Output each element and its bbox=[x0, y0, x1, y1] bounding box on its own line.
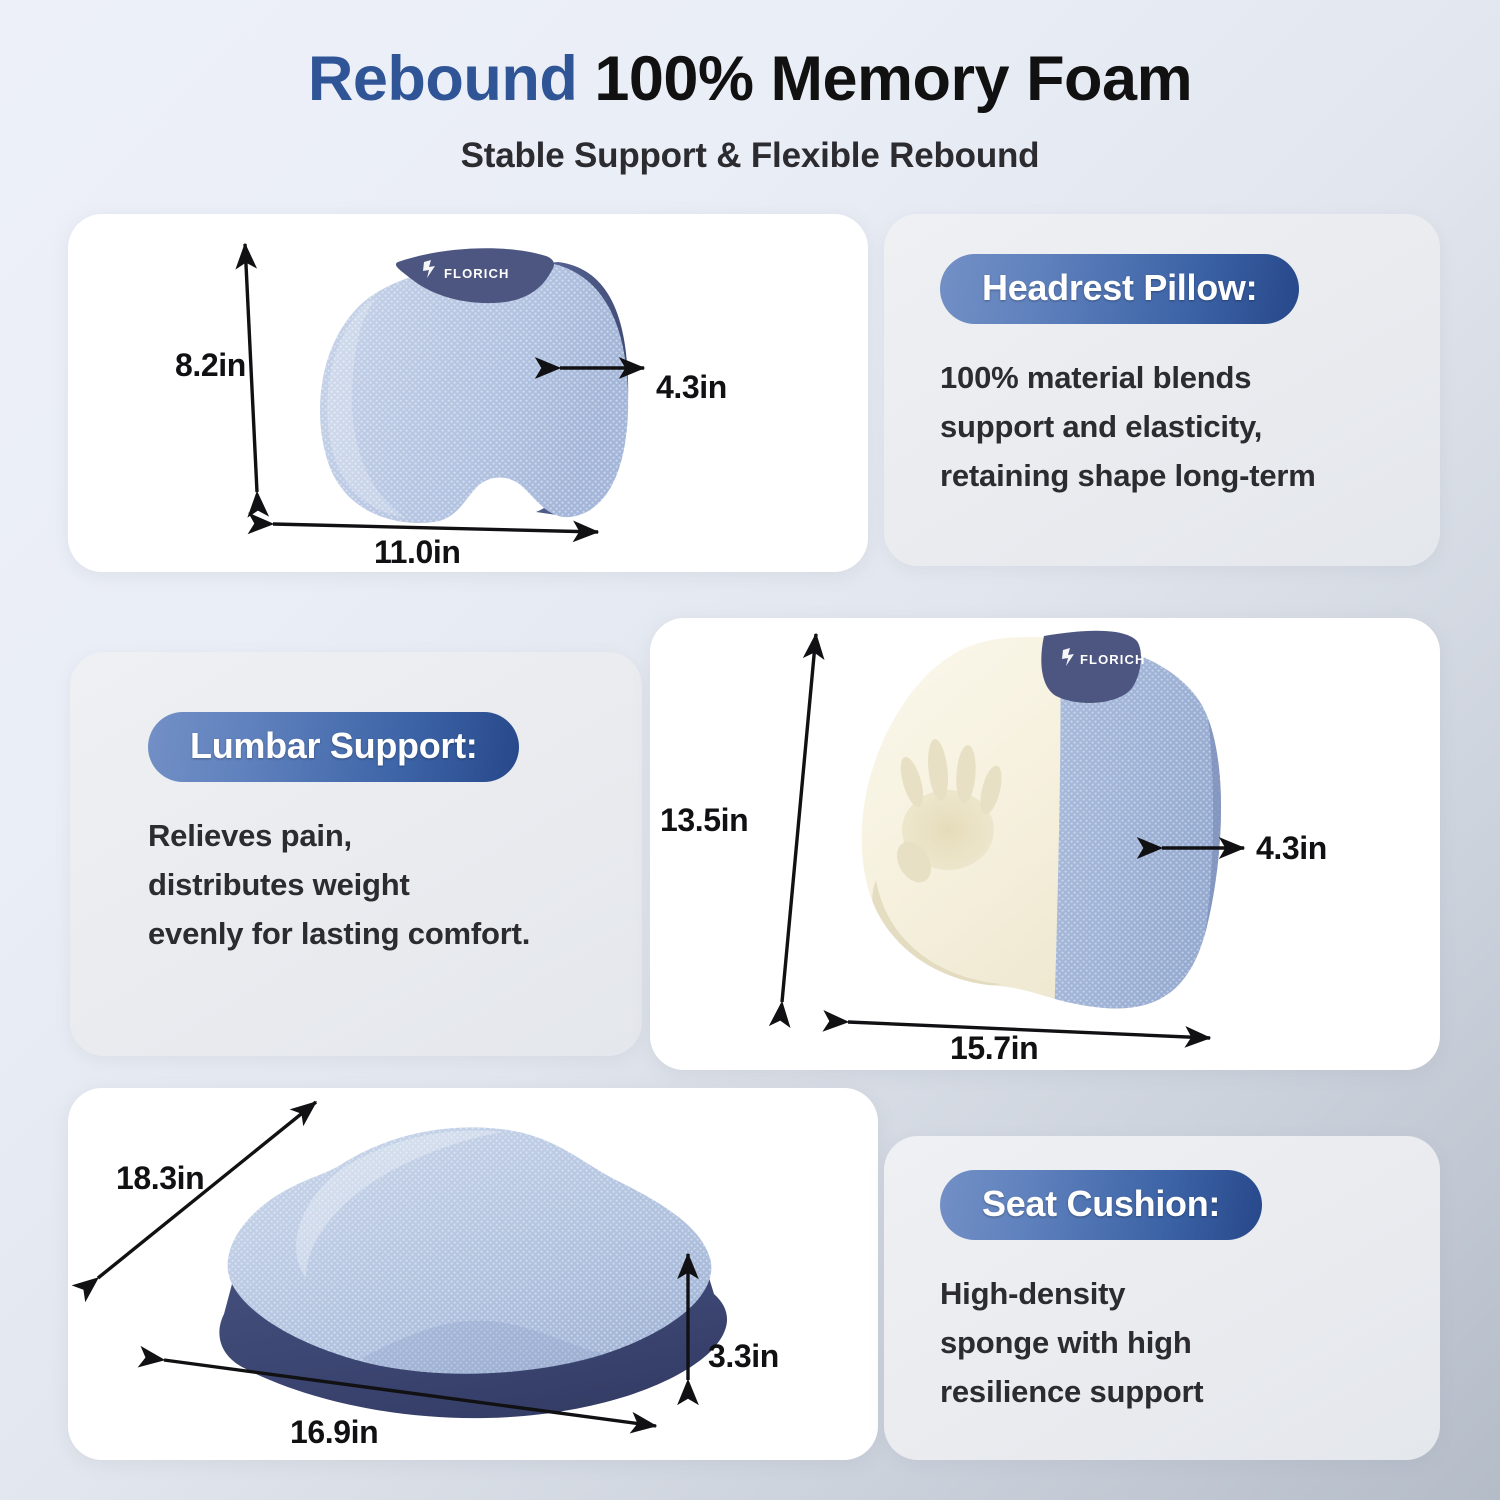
headrest-image-card: FLORICH 8.2in 11.0in 4.3in bbox=[68, 214, 868, 572]
seat-pill-heading: Seat Cushion: bbox=[940, 1170, 1262, 1240]
seat-body-line-1: High-density bbox=[940, 1270, 1440, 1319]
lumbar-height-label: 13.5in bbox=[660, 802, 748, 839]
seat-depth-label: 18.3in bbox=[116, 1160, 204, 1197]
seat-height-label: 3.3in bbox=[708, 1338, 779, 1375]
headrest-body-line-1: 100% material blends bbox=[940, 354, 1440, 403]
seat-body-text: High-density sponge with high resilience… bbox=[940, 1270, 1440, 1417]
lumbar-depth-label: 4.3in bbox=[1256, 830, 1327, 867]
page-subtitle: Stable Support & Flexible Rebound bbox=[0, 136, 1500, 176]
seat-cushion-text-card: Seat Cushion: High-density sponge with h… bbox=[884, 1136, 1440, 1460]
brand-logo-print-seat: FLORICH bbox=[590, 1140, 674, 1167]
seat-body-line-2: sponge with high bbox=[940, 1319, 1440, 1368]
lumbar-image-card: FLORICH 13.5in 15.7in 4.3in bbox=[650, 618, 1440, 1070]
lumbar-pill-heading: Lumbar Support: bbox=[148, 712, 519, 782]
headrest-body-text: 100% material blends support and elastic… bbox=[940, 354, 1440, 501]
headrest-body-line-3: retaining shape long-term bbox=[940, 452, 1440, 501]
headrest-pillow-illustration: FLORICH bbox=[258, 240, 688, 540]
page-header: Rebound 100% Memory Foam Stable Support … bbox=[0, 0, 1500, 200]
headrest-text-card: Headrest Pillow: 100% material blends su… bbox=[884, 214, 1440, 566]
headrest-body-line-2: support and elasticity, bbox=[940, 403, 1440, 452]
seat-body-line-3: resilience support bbox=[940, 1368, 1440, 1417]
seat-cushion-illustration: FLORICH bbox=[186, 1118, 786, 1448]
headrest-height-label: 8.2in bbox=[175, 347, 246, 384]
brand-name-text-seat: FLORICH bbox=[608, 1144, 675, 1167]
lumbar-body-line-2: distributes weight bbox=[148, 861, 642, 910]
lumbar-width-label: 15.7in bbox=[950, 1030, 1038, 1067]
lumbar-text-card: Lumbar Support: Relieves pain, distribut… bbox=[70, 652, 642, 1056]
seat-cushion-image-card: FLORICH 18.3in 16.9in 3.3in bbox=[68, 1088, 878, 1460]
lumbar-support-illustration: FLORICH bbox=[818, 630, 1288, 1050]
lumbar-body-text: Relieves pain, distributes weight evenly… bbox=[148, 812, 642, 959]
headrest-depth-label: 4.3in bbox=[656, 369, 727, 406]
page-title: Rebound 100% Memory Foam bbox=[0, 46, 1500, 112]
headrest-pill-heading: Headrest Pillow: bbox=[940, 254, 1299, 324]
lumbar-body-line-1: Relieves pain, bbox=[148, 812, 642, 861]
title-accent-text: Rebound bbox=[308, 44, 577, 114]
headrest-width-label: 11.0in bbox=[374, 534, 461, 571]
title-main-text: 100% Memory Foam bbox=[594, 44, 1192, 114]
brand-name-text: FLORICH bbox=[444, 266, 509, 281]
seat-width-label: 16.9in bbox=[290, 1414, 378, 1451]
lumbar-body-line-3: evenly for lasting comfort. bbox=[148, 910, 642, 959]
brand-name-text-lumbar: FLORICH bbox=[1080, 652, 1145, 667]
